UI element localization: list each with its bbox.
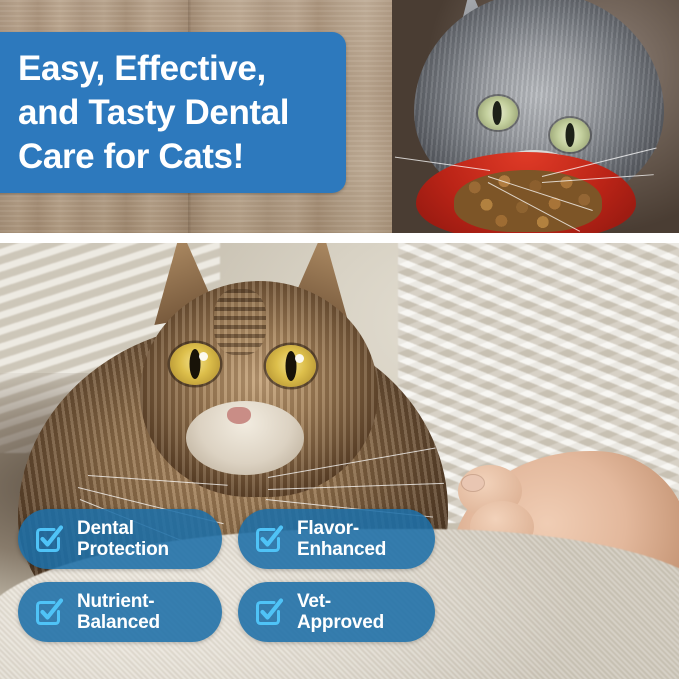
fingernail xyxy=(462,475,484,491)
feature-badge-grid: Dental Protection Flavor- Enhanced xyxy=(18,509,438,655)
feature-badge-nutrient-balanced[interactable]: Nutrient- Balanced xyxy=(18,582,222,642)
tabby-cat-nose xyxy=(227,407,251,424)
feature-badge-dental-protection[interactable]: Dental Protection xyxy=(18,509,222,569)
feature-badge-row-2: Nutrient- Balanced Vet-Approved xyxy=(18,582,438,642)
panel-divider xyxy=(0,233,679,243)
checkbox-check-icon xyxy=(252,595,286,629)
grey-cat-pupil-left xyxy=(493,101,502,125)
top-photo-panel: Easy, Effective, and Tasty Dental Care f… xyxy=(0,0,679,233)
grey-cat-eye-left xyxy=(478,96,518,130)
checkbox-check-icon xyxy=(32,522,66,556)
tabby-cat-eye-left xyxy=(170,343,220,385)
tabby-cat-forehead-markings xyxy=(214,289,266,355)
feature-badge-label: Vet-Approved xyxy=(297,591,413,633)
feature-badge-label: Nutrient- Balanced xyxy=(77,591,160,633)
tabby-cat-eye-glint-left xyxy=(199,352,208,361)
headline-line-3: Care for Cats! xyxy=(18,135,330,179)
bottom-photo-panel: Dental Protection Flavor- Enhanced xyxy=(0,243,679,679)
feature-badge-flavor-enhanced[interactable]: Flavor- Enhanced xyxy=(238,509,435,569)
tabby-cat-eye-right xyxy=(266,345,316,387)
checkbox-check-icon xyxy=(32,595,66,629)
feature-badge-vet-approved[interactable]: Vet-Approved xyxy=(238,582,435,642)
headline-line-2: and Tasty Dental xyxy=(18,91,330,135)
feature-badge-label: Dental Protection xyxy=(77,518,169,560)
headline-line-1: Easy, Effective, xyxy=(18,47,330,91)
product-listing-image: Easy, Effective, and Tasty Dental Care f… xyxy=(0,0,679,679)
grey-cat-photo xyxy=(392,0,679,233)
tabby-cat-eye-glint-right xyxy=(295,354,304,363)
headline-banner: Easy, Effective, and Tasty Dental Care f… xyxy=(0,32,346,193)
feature-badge-row-1: Dental Protection Flavor- Enhanced xyxy=(18,509,438,569)
checkbox-check-icon xyxy=(252,522,286,556)
feature-badge-label: Flavor- Enhanced xyxy=(297,518,386,560)
grey-cat-pupil-right xyxy=(566,123,575,147)
grey-cat-eye-right xyxy=(550,118,590,152)
